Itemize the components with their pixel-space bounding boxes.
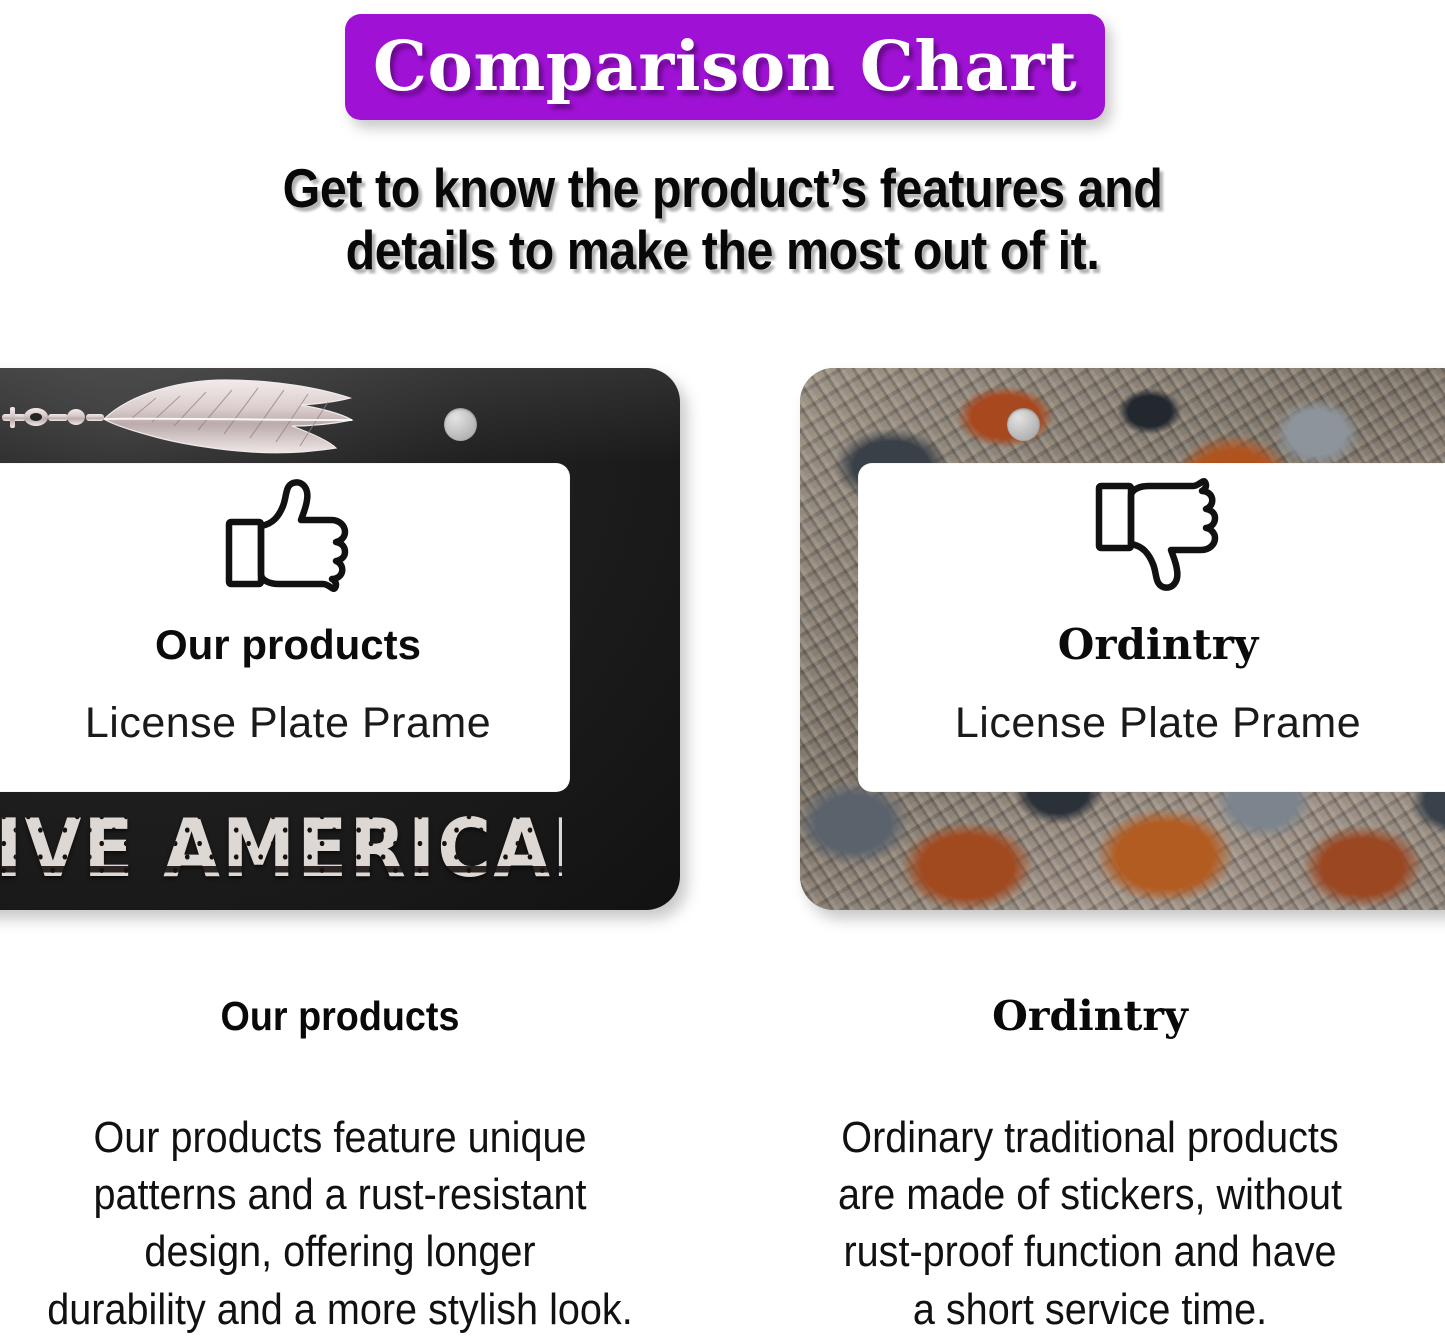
description-line: a short service time. bbox=[775, 1281, 1405, 1338]
inner-title-right: Ordintry bbox=[878, 624, 1438, 666]
column-heading-right: Ordintry bbox=[740, 996, 1440, 1037]
column-body-left: Our products feature unique patterns and… bbox=[25, 1109, 655, 1338]
screw-hole-right bbox=[1007, 408, 1040, 441]
description-column-left: Our products Our products feature unique… bbox=[0, 996, 690, 1338]
frame-bottom-text: NATIVE AMERICAN bbox=[0, 808, 562, 889]
inner-subtitle-right: License Plate Prame bbox=[878, 702, 1438, 745]
frame-inner-content-left: Our products License Plate Prame bbox=[8, 476, 568, 745]
frame-inner-content-right: Ordintry License Plate Prame bbox=[878, 476, 1438, 745]
frame-bottom-text-wrap: NATIVE AMERICAN bbox=[0, 802, 562, 894]
description-line: durability and a more stylish look. bbox=[25, 1281, 655, 1338]
column-body-right: Ordinary traditional products are made o… bbox=[775, 1109, 1405, 1338]
thumbs-up-icon bbox=[223, 476, 353, 594]
description-line: Our products feature unique bbox=[25, 1109, 655, 1166]
screw-hole-left bbox=[444, 408, 477, 441]
description-line: patterns and a rust-resistant bbox=[25, 1166, 655, 1223]
description-line: rust-proof function and have bbox=[775, 1223, 1405, 1280]
description-line: design, offering longer bbox=[25, 1223, 655, 1280]
description-line: Ordinary traditional products bbox=[775, 1109, 1405, 1166]
inner-title-left: Our products bbox=[8, 624, 568, 666]
inner-subtitle-left: License Plate Prame bbox=[8, 702, 568, 745]
description-column-right: Ordintry Ordinary traditional products a… bbox=[740, 996, 1440, 1338]
thumbs-down-icon bbox=[1093, 476, 1223, 594]
description-line: are made of stickers, without bbox=[775, 1166, 1405, 1223]
column-heading-left: Our products bbox=[18, 996, 662, 1037]
feather-arrow-icon bbox=[0, 374, 440, 462]
